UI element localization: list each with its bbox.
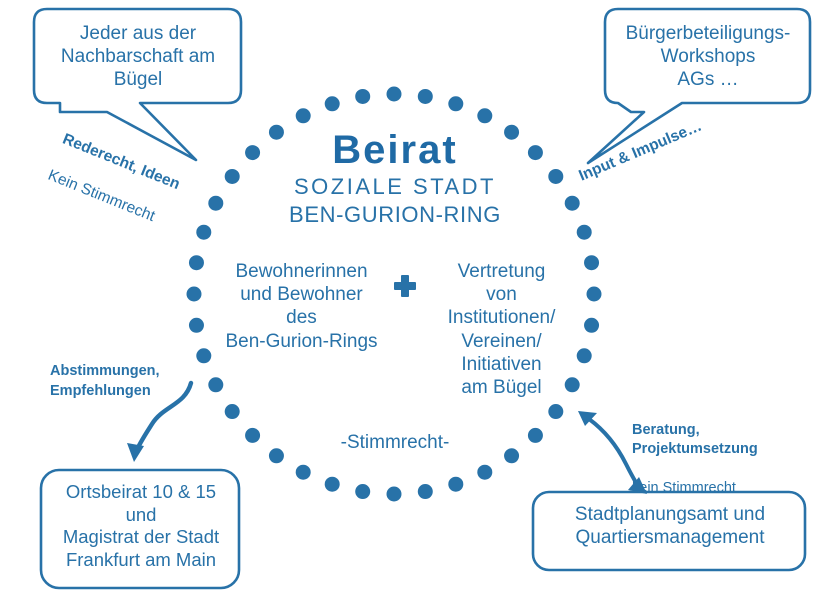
subtitle-ben-gurion-ring: BEN-GURION-RING	[230, 202, 560, 229]
ring-dot	[577, 225, 592, 240]
ring-dot	[584, 255, 599, 270]
connector-label-beratung-regular: kein Stimmrecht	[632, 479, 802, 498]
ring-dot	[187, 287, 202, 302]
arrow-ring-to-ortsbeirat-head	[127, 443, 144, 462]
ring-dot	[418, 89, 433, 104]
center-footer-note: -Stimmrecht-	[290, 431, 500, 454]
ring-dot	[387, 487, 402, 502]
speech-bubble-top-right-text: Bürgerbeteiligungs- Workshops AGs …	[610, 22, 806, 92]
arrow-stadtplanungsamt-bidirectional	[589, 419, 638, 486]
ring-dot	[245, 428, 260, 443]
ring-dot	[296, 108, 311, 123]
ring-dot	[208, 377, 223, 392]
box-bottom-left-text: Ortsbeirat 10 & 15 und Magistrat der Sta…	[44, 481, 238, 571]
speech-bubble-top-left-text: Jeder aus der Nachbarschaft am Bügel	[40, 22, 236, 92]
ring-dot	[584, 318, 599, 333]
ring-dot	[418, 484, 433, 499]
center-column-institutions: Vertretung von Institutionen/ Vereinen/ …	[424, 260, 579, 399]
ring-dot	[225, 404, 240, 419]
ring-dot	[477, 465, 492, 480]
center-column-residents: Bewohnerinnen und Bewohner des Ben-Gurio…	[214, 260, 389, 353]
ring-dot	[504, 448, 519, 463]
ring-dot	[448, 477, 463, 492]
ring-dot	[269, 448, 284, 463]
ring-dot	[528, 428, 543, 443]
ring-dot	[325, 96, 340, 111]
ring-dot	[448, 96, 463, 111]
ring-dot	[189, 318, 204, 333]
ring-dot	[355, 484, 370, 499]
ring-dot	[325, 477, 340, 492]
page-title: Beirat	[230, 126, 560, 175]
ring-dot	[565, 196, 580, 211]
plus-icon	[394, 275, 416, 297]
ring-dot	[587, 287, 602, 302]
connector-label-abstimmungen: Abstimmungen, Empfehlungen	[50, 362, 210, 401]
ring-dot	[296, 465, 311, 480]
ring-dot	[387, 87, 402, 102]
ring-dot	[355, 89, 370, 104]
diagram-canvas: Jeder aus der Nachbarschaft am Bügel Bür…	[0, 0, 820, 600]
ring-dot	[548, 404, 563, 419]
connector-label-beratung: Beratung, Projektumsetzung kein Stimmrec…	[632, 402, 802, 517]
subtitle-soziale-stadt: SOZIALE STADT	[230, 174, 560, 201]
ring-dot	[477, 108, 492, 123]
connector-label-beratung-bold: Beratung, Projektumsetzung	[632, 421, 802, 459]
